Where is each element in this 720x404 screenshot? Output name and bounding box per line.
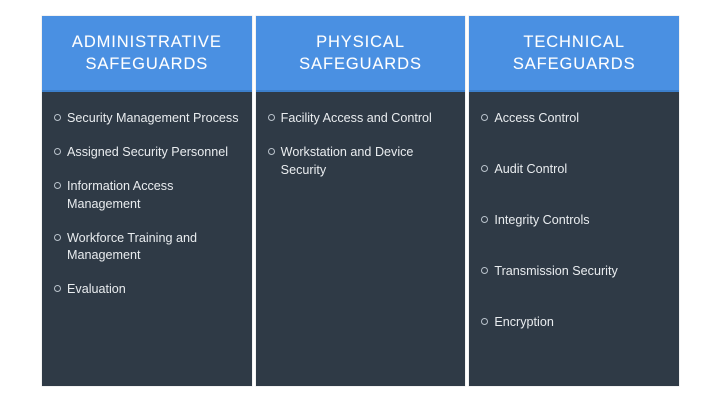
list-item[interactable]: Security Management Process: [54, 110, 240, 128]
hollow-circle-bullet-icon: [54, 182, 61, 189]
safeguards-column-group: ADMINISTRATIVE SAFEGUARDS Security Manag…: [42, 16, 679, 386]
hollow-circle-bullet-icon: [481, 318, 488, 325]
list-item[interactable]: Workstation and Device Security: [268, 144, 454, 180]
list-item[interactable]: Evaluation: [54, 281, 240, 299]
panel-header-technical: TECHNICAL SAFEGUARDS: [469, 16, 679, 92]
list-item-label: Workforce Training and Management: [67, 230, 240, 266]
list-item-label: Integrity Controls: [494, 212, 667, 230]
hollow-circle-bullet-icon: [268, 114, 275, 121]
list-item[interactable]: Assigned Security Personnel: [54, 144, 240, 162]
list-item[interactable]: Access Control: [481, 110, 667, 128]
list-item-label: Evaluation: [67, 281, 240, 299]
list-item-label: Transmission Security: [494, 263, 667, 281]
panel-body-technical: Access Control Audit Control Integrity C…: [469, 92, 679, 386]
panel-header-administrative: ADMINISTRATIVE SAFEGUARDS: [42, 16, 252, 92]
list-item[interactable]: Encryption: [481, 314, 667, 332]
list-item-label: Information Access Management: [67, 178, 240, 214]
list-item[interactable]: Facility Access and Control: [268, 110, 454, 128]
list-item-label: Facility Access and Control: [281, 110, 454, 128]
safeguards-panel-technical: TECHNICAL SAFEGUARDS Access Control Audi…: [469, 16, 679, 386]
list-item-label: Workstation and Device Security: [281, 144, 454, 180]
hollow-circle-bullet-icon: [54, 114, 61, 121]
hollow-circle-bullet-icon: [54, 234, 61, 241]
hollow-circle-bullet-icon: [54, 148, 61, 155]
panel-title-technical: TECHNICAL SAFEGUARDS: [513, 31, 636, 76]
hollow-circle-bullet-icon: [481, 114, 488, 121]
panel-title-administrative: ADMINISTRATIVE SAFEGUARDS: [72, 31, 222, 76]
panel-header-physical: PHYSICAL SAFEGUARDS: [256, 16, 466, 92]
item-list-technical: Access Control Audit Control Integrity C…: [481, 110, 667, 331]
hollow-circle-bullet-icon: [54, 285, 61, 292]
list-item[interactable]: Information Access Management: [54, 178, 240, 214]
list-item-label: Audit Control: [494, 161, 667, 179]
list-item-label: Encryption: [494, 314, 667, 332]
list-item[interactable]: Integrity Controls: [481, 212, 667, 230]
panel-title-physical: PHYSICAL SAFEGUARDS: [299, 31, 422, 76]
list-item-label: Assigned Security Personnel: [67, 144, 240, 162]
item-list-physical: Facility Access and Control Workstation …: [268, 110, 454, 180]
list-item[interactable]: Audit Control: [481, 161, 667, 179]
safeguards-panel-physical: PHYSICAL SAFEGUARDS Facility Access and …: [256, 16, 466, 386]
hollow-circle-bullet-icon: [481, 267, 488, 274]
panel-body-physical: Facility Access and Control Workstation …: [256, 92, 466, 386]
safeguards-board: ADMINISTRATIVE SAFEGUARDS Security Manag…: [0, 0, 720, 404]
hollow-circle-bullet-icon: [481, 216, 488, 223]
list-item[interactable]: Transmission Security: [481, 263, 667, 281]
hollow-circle-bullet-icon: [268, 148, 275, 155]
panel-body-administrative: Security Management Process Assigned Sec…: [42, 92, 252, 386]
list-item-label: Access Control: [494, 110, 667, 128]
list-item-label: Security Management Process: [67, 110, 240, 128]
safeguards-panel-administrative: ADMINISTRATIVE SAFEGUARDS Security Manag…: [42, 16, 252, 386]
hollow-circle-bullet-icon: [481, 165, 488, 172]
list-item[interactable]: Workforce Training and Management: [54, 230, 240, 266]
item-list-administrative: Security Management Process Assigned Sec…: [54, 110, 240, 299]
